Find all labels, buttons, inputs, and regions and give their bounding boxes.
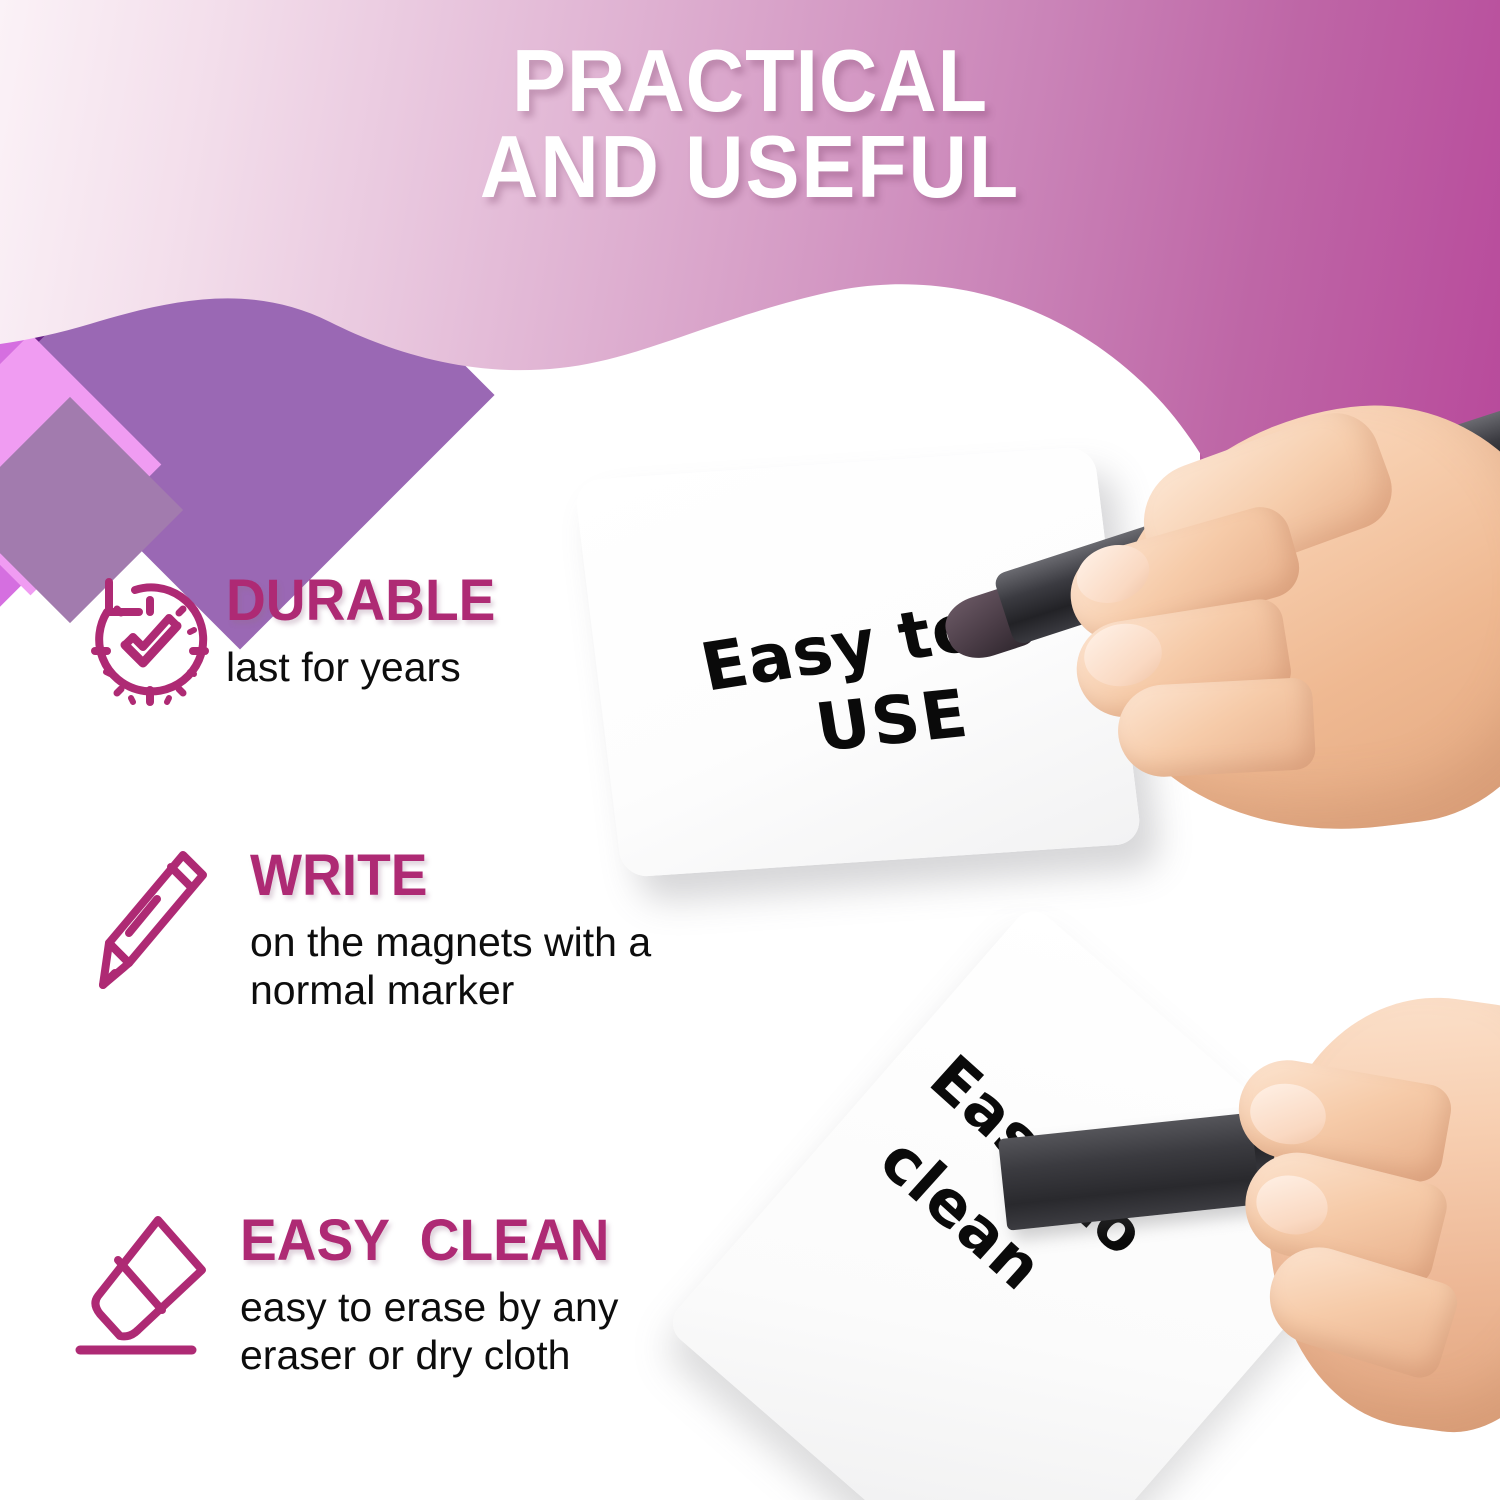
feature-description: on the magnets with a normal marker: [250, 919, 651, 1015]
fingernail-middle: [1079, 618, 1167, 693]
feature-text-easy-clean: EASY CLEAN easy to erase by any eraser o…: [240, 1208, 629, 1380]
pencil-icon: [74, 843, 226, 1003]
eraser-icon: [74, 1208, 226, 1368]
finger-ring: [1258, 1235, 1463, 1383]
feature-description: easy to erase by any eraser or dry cloth: [240, 1284, 629, 1380]
feature-title: EASY CLEAN: [240, 1212, 609, 1270]
finger-middle: [1070, 596, 1294, 724]
header-banner: [0, 0, 1500, 520]
magnet-card-easy-to-clean: Easy to clean: [664, 903, 1386, 1500]
feature-title: WRITE: [250, 847, 631, 905]
clock-check-icon: [74, 568, 226, 718]
feature-title: DURABLE: [226, 572, 495, 630]
infographic-canvas: PRACTICAL AND USEFUL: [0, 0, 1500, 1500]
fingernail-index: [1245, 1078, 1330, 1150]
fingernail-index: [1069, 536, 1157, 612]
eraser-handle: [1251, 1105, 1353, 1177]
marker-tip: [939, 582, 1040, 668]
card2-line-2: clean: [866, 1123, 1057, 1305]
card1-line-1: Easy to: [694, 588, 985, 706]
black-eraser-block: [998, 1111, 1274, 1231]
card-handwriting: Easy to clean: [664, 903, 1386, 1500]
card1-line-2: USE: [811, 675, 974, 767]
feature-item-durable: DURABLE last for years: [74, 568, 510, 718]
feature-item-write: WRITE on the magnets with a normal marke…: [74, 843, 651, 1015]
card2-line-1: Easy to: [916, 1041, 1160, 1271]
finger-ring: [1116, 677, 1317, 779]
feature-text-durable: DURABLE last for years: [226, 568, 510, 692]
palm: [1240, 977, 1500, 1449]
finger-middle: [1234, 1142, 1451, 1291]
hand-holding-eraser: [1242, 976, 1500, 1456]
feature-text-write: WRITE on the magnets with a normal marke…: [240, 843, 651, 1015]
finger-index: [1231, 1053, 1455, 1186]
feature-item-easy-clean: EASY CLEAN easy to erase by any eraser o…: [74, 1208, 629, 1380]
feature-description: last for years: [226, 644, 510, 692]
fingernail-middle: [1250, 1168, 1334, 1242]
